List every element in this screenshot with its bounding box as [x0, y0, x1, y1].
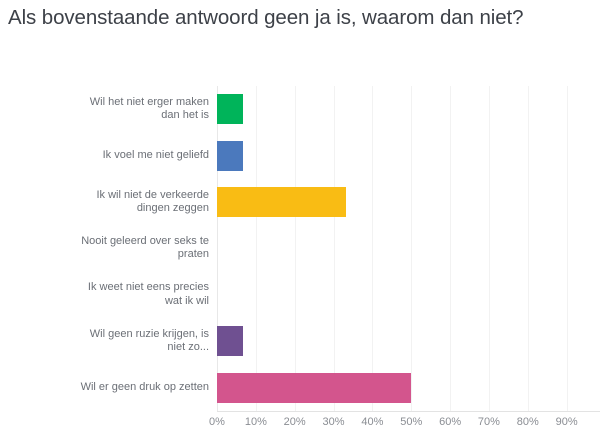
- bar-row: Ik voel me niet geliefd: [0, 132, 600, 178]
- x-tick-label: 50%: [400, 416, 422, 428]
- bar-category-label: Nooit geleerd over seks te praten: [79, 235, 209, 262]
- bar[interactable]: [217, 326, 243, 356]
- bar[interactable]: [217, 94, 243, 124]
- bar-rows: Wil het niet erger maken dan het isIk vo…: [0, 86, 600, 411]
- bar-category-label: Ik wil niet de verkeerde dingen zeggen: [79, 189, 209, 216]
- bar[interactable]: [217, 187, 346, 217]
- x-tick-label: 60%: [439, 416, 461, 428]
- bar-row: Ik weet niet eens precies wat ik wil: [0, 272, 600, 318]
- bar-category-label: Wil het niet erger maken dan het is: [79, 96, 209, 123]
- chart-area: Wil het niet erger maken dan het isIk vo…: [0, 86, 600, 447]
- bar-row: Wil het niet erger maken dan het is: [0, 86, 600, 132]
- bar[interactable]: [217, 141, 243, 171]
- bar-category-label: Wil geen ruzie krijgen, is niet zo...: [79, 328, 209, 355]
- page-title: Als bovenstaande antwoord geen ja is, wa…: [8, 6, 600, 30]
- x-tick-label: 20%: [284, 416, 306, 428]
- x-tick-label: 30%: [323, 416, 345, 428]
- x-tick-label: 70%: [478, 416, 500, 428]
- x-tick-label: 0%: [209, 416, 225, 428]
- bar-category-label: Wil er geen druk op zetten: [79, 381, 209, 395]
- x-tick-label: 80%: [517, 416, 539, 428]
- bar[interactable]: [217, 373, 411, 403]
- bar-row: Wil er geen druk op zetten: [0, 365, 600, 411]
- bar-row: Wil geen ruzie krijgen, is niet zo...: [0, 318, 600, 364]
- x-axis-line: [217, 411, 600, 412]
- x-tick-label: 90%: [556, 416, 578, 428]
- x-tick-label: 10%: [245, 416, 267, 428]
- x-axis-ticks: 0%10%20%30%40%50%60%70%80%90%: [0, 416, 600, 438]
- bar-row: Ik wil niet de verkeerde dingen zeggen: [0, 179, 600, 225]
- bar-category-label: Ik voel me niet geliefd: [79, 149, 209, 163]
- bar-row: Nooit geleerd over seks te praten: [0, 225, 600, 271]
- x-tick-label: 40%: [361, 416, 383, 428]
- chart-page: Als bovenstaande antwoord geen ja is, wa…: [0, 0, 600, 447]
- bar-category-label: Ik weet niet eens precies wat ik wil: [79, 281, 209, 308]
